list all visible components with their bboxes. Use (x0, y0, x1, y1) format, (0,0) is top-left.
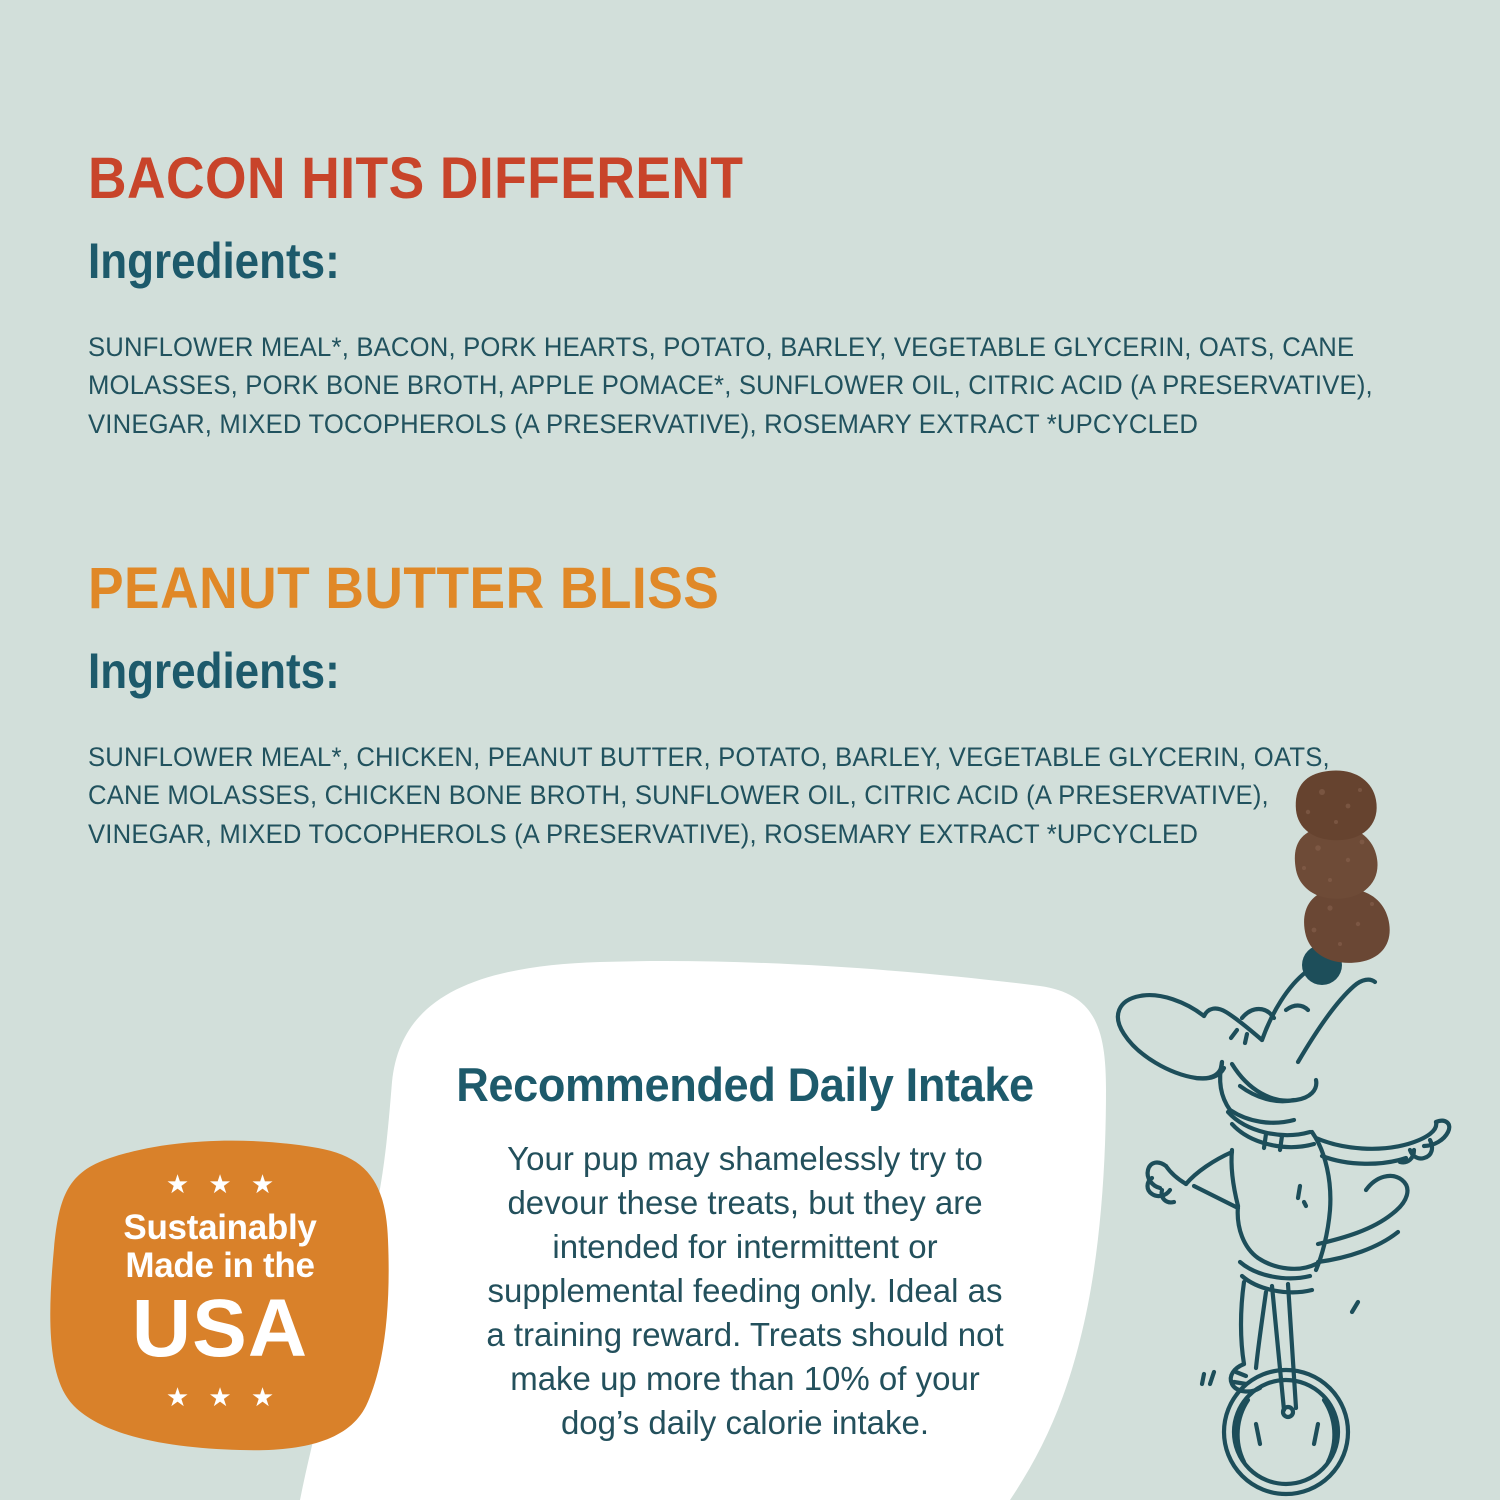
ingredients-line: SUNFLOWER MEAL*, CHICKEN, PEANUT BUTTER,… (88, 738, 1285, 776)
rdi-body-line: devour these treats, but they are (435, 1181, 1055, 1225)
rdi-body-line: supplemental feeding only. Ideal as (435, 1269, 1055, 1313)
flavor-title-peanut-butter: Peanut Butter Bliss (88, 560, 1247, 618)
badge-line-2: Made in the (125, 1247, 314, 1286)
ingredients-label-bacon: Ingredients: (88, 236, 1197, 286)
badge-usa-text: USA (132, 1288, 308, 1370)
flavor-title-bacon: Bacon Hits Different (88, 150, 1247, 208)
ingredients-list-bacon: SUNFLOWER MEAL*, BACON, PORK HEARTS, POT… (88, 328, 1285, 443)
ingredients-list-peanut-butter: SUNFLOWER MEAL*, CHICKEN, PEANUT BUTTER,… (88, 738, 1285, 853)
ingredients-label-peanut-butter: Ingredients: (88, 646, 1197, 696)
rdi-body-line: intended for intermittent or (435, 1225, 1055, 1269)
dog-nose (1302, 945, 1342, 985)
stars-bottom-icon: ★ ★ ★ (166, 1384, 280, 1410)
treat-bottom (1304, 888, 1390, 962)
dog-line-art (1118, 965, 1449, 1494)
product-info-panel: Bacon Hits Different Ingredients: SUNFLO… (0, 0, 1500, 1500)
recommended-daily-intake-card: Recommended Daily Intake Your pup may sh… (395, 1060, 1095, 1444)
ingredients-line: VINEGAR, MIXED TOCOPHEROLS (A PRESERVATI… (88, 815, 1285, 853)
ingredients-line: VINEGAR, MIXED TOCOPHEROLS (A PRESERVATI… (88, 405, 1285, 443)
rdi-body-line: a training reward. Treats should not (435, 1313, 1055, 1357)
stars-top-icon: ★ ★ ★ (166, 1171, 280, 1197)
rdi-body: Your pup may shamelessly try to devour t… (395, 1137, 1095, 1444)
ingredients-line: MOLASSES, PORK BONE BROTH, APPLE POMACE*… (88, 366, 1285, 404)
ingredients-line: CANE MOLASSES, CHICKEN BONE BROTH, SUNFL… (88, 776, 1285, 814)
flavor-block-peanut-butter: Peanut Butter Bliss Ingredients: SUNFLOW… (88, 560, 1348, 853)
flavor-block-bacon: Bacon Hits Different Ingredients: SUNFLO… (88, 150, 1348, 443)
rdi-body-line: dog’s daily calorie intake. (435, 1401, 1055, 1445)
badge-line-1: Sustainably (123, 1209, 316, 1248)
rdi-title: Recommended Daily Intake (409, 1060, 1081, 1109)
sustainably-made-in-usa-badge: ★ ★ ★ Sustainably Made in the USA ★ ★ ★ (55, 1140, 385, 1440)
rdi-body-line: Your pup may shamelessly try to (435, 1137, 1055, 1181)
ingredients-line: SUNFLOWER MEAL*, BACON, PORK HEARTS, POT… (88, 328, 1285, 366)
rdi-body-line: make up more than 10% of your (435, 1357, 1055, 1401)
